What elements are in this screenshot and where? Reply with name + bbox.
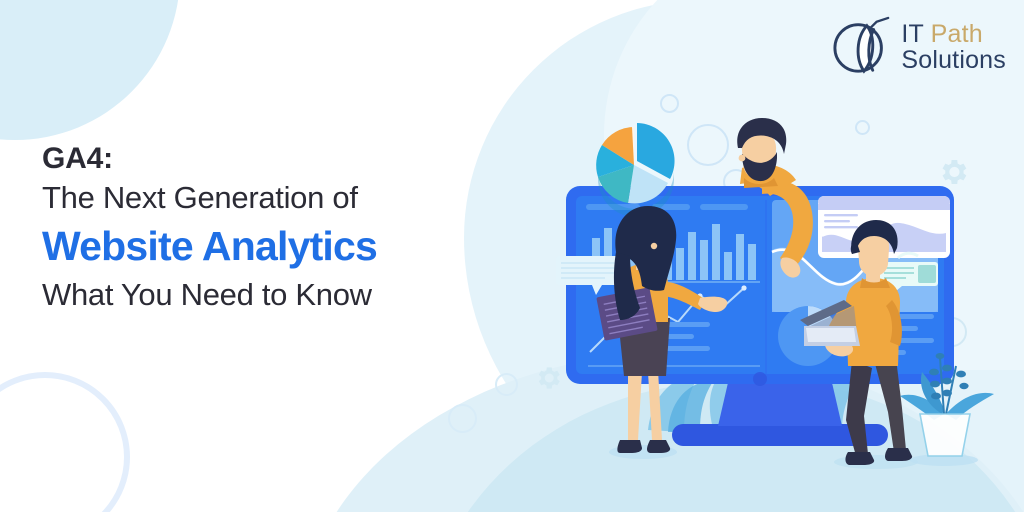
pie-chart	[596, 123, 674, 217]
banner-root: GA4: The Next Generation of Website Anal…	[0, 0, 1024, 512]
analytics-dashboard-illustration	[0, 0, 1024, 512]
monitor-power-dot	[753, 372, 767, 386]
